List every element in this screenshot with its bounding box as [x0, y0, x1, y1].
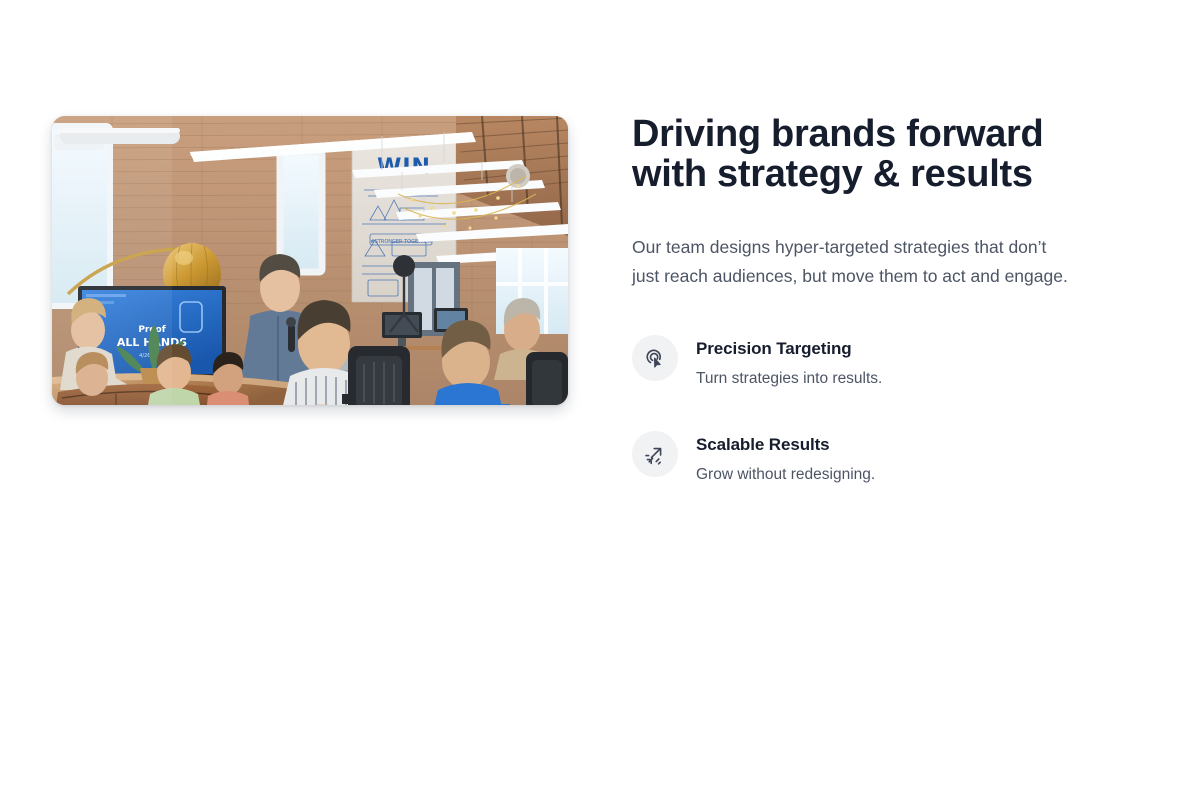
page-title: Driving brands forward with strategy & r…: [632, 114, 1152, 194]
feature-title: Scalable Results: [696, 434, 875, 456]
feature-title: Precision Targeting: [696, 338, 882, 360]
feature-list: Precision Targeting Turn strategies into…: [632, 334, 1152, 485]
feature-text-block: Scalable Results Grow without redesignin…: [696, 430, 875, 485]
tap-click-target-icon: [632, 335, 678, 381]
feature-item-precision-targeting: Precision Targeting Turn strategies into…: [632, 334, 1152, 389]
marketing-feature-section: WIN #STRONGER TOGETHER: [0, 0, 1200, 800]
feature-description: Grow without redesigning.: [696, 465, 875, 485]
office-meeting-photo: WIN #STRONGER TOGETHER: [52, 116, 568, 405]
hero-image-card: WIN #STRONGER TOGETHER: [52, 116, 568, 405]
feature-description: Turn strategies into results.: [696, 369, 882, 389]
feature-text-block: Precision Targeting Turn strategies into…: [696, 334, 882, 389]
section-description: Our team designs hyper-targeted strategi…: [632, 233, 1148, 291]
content-column: Driving brands forward with strategy & r…: [632, 114, 1152, 485]
arrow-scale-up-right-icon: [632, 431, 678, 477]
feature-item-scalable-results: Scalable Results Grow without redesignin…: [632, 430, 1152, 485]
